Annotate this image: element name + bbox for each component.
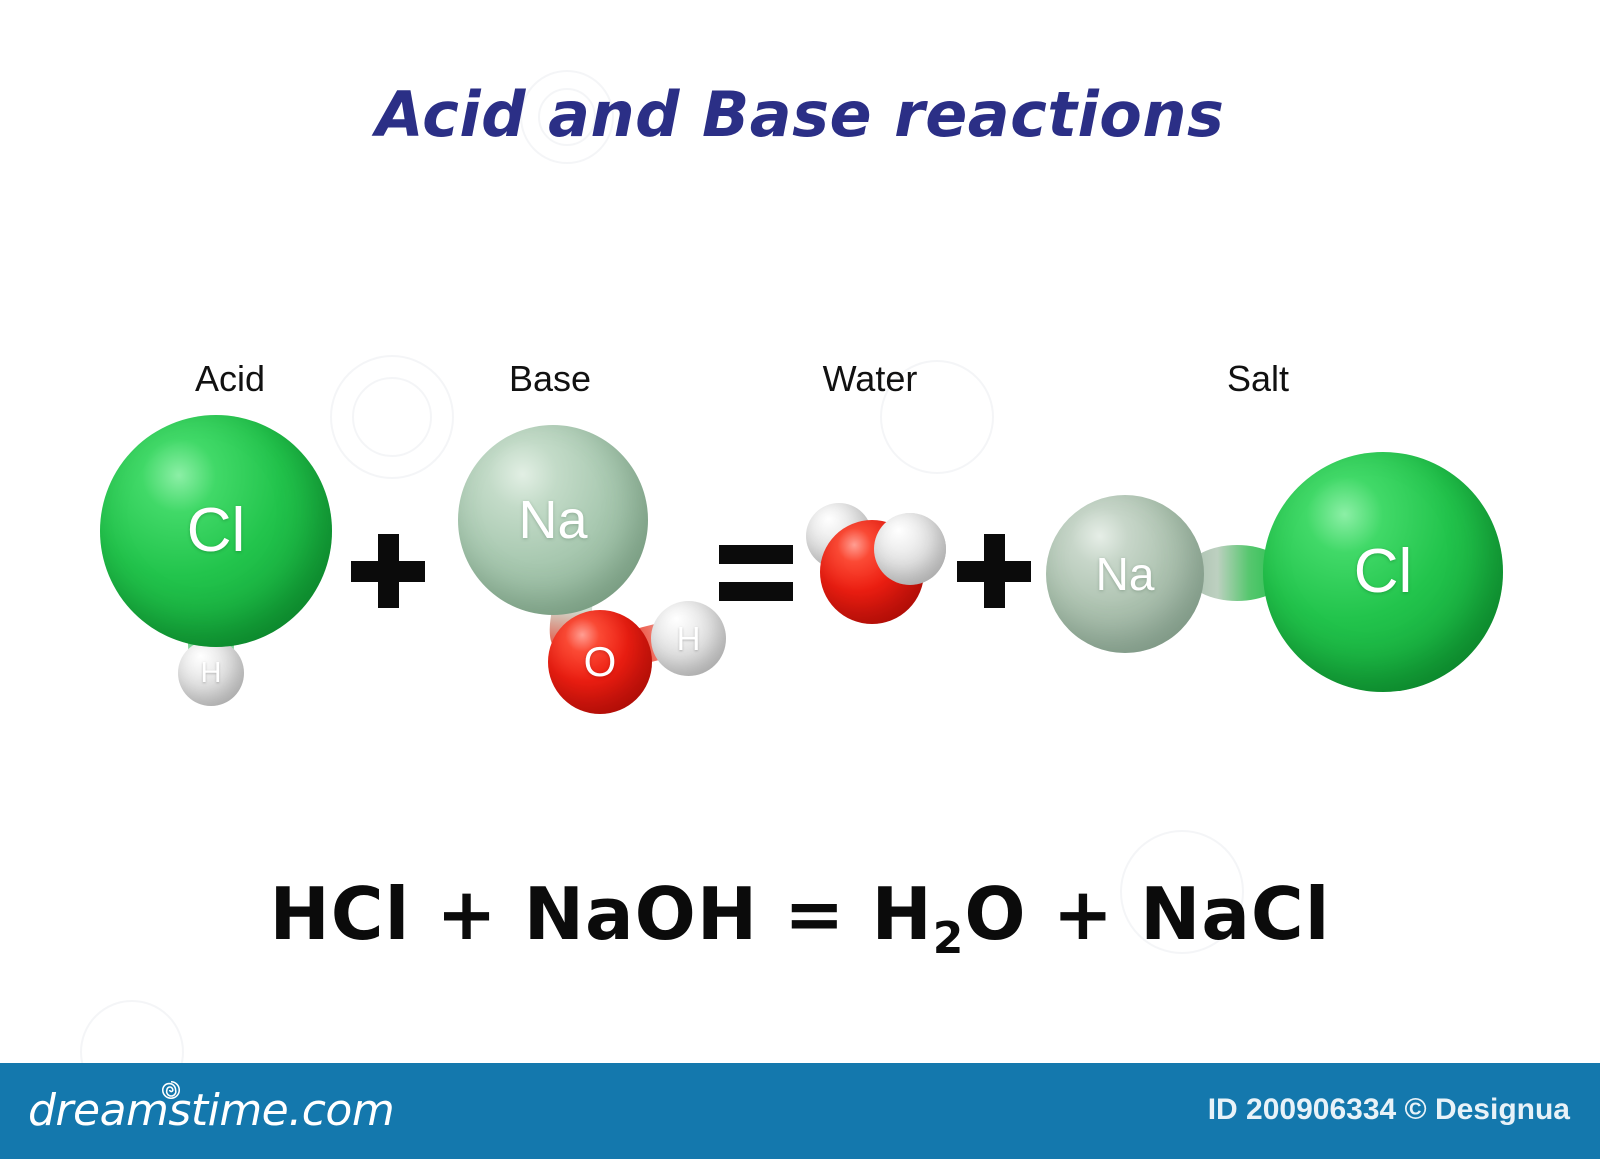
equals-bar-bottom [719, 582, 793, 601]
atom-label-h: H [201, 659, 222, 688]
atom-label-o: O [584, 641, 617, 683]
operator-equals [719, 545, 793, 601]
atom-label-cl: Cl [1354, 541, 1413, 603]
atom-cl-nacl: Cl [1263, 452, 1503, 692]
atom-h-hcl: H [178, 640, 244, 706]
footer-bar: dreamstime.com ID 200906334 © Designua [0, 1063, 1600, 1159]
page-title: Acid and Base reactions [0, 78, 1600, 151]
atom-cl-hcl: Cl [100, 415, 332, 647]
operator-plus-2 [957, 534, 1031, 608]
atom-label-h: H [677, 622, 701, 655]
atom-label-cl: Cl [187, 500, 246, 562]
label-acid: Acid [120, 358, 340, 400]
image-credit: ID 200906334 © Designua [1208, 1093, 1570, 1127]
chemical-equation: HCl + NaOH = H2O + NaCl [0, 872, 1600, 964]
watermark-ring [330, 355, 454, 479]
atom-na-nacl: Na [1046, 495, 1204, 653]
label-water: Water [760, 358, 980, 400]
operator-plus-1 [351, 534, 425, 608]
label-salt: Salt [1148, 358, 1368, 400]
equation-part-1: HCl + NaOH = H [270, 872, 933, 956]
atom-h2-water-front [874, 513, 946, 585]
atom-h-naoh: H [651, 601, 726, 676]
atom-na-naoh: Na [458, 425, 648, 615]
equation-part-2: O + NaCl [964, 872, 1330, 956]
equation-subscript: 2 [933, 913, 965, 964]
atom-o-naoh: O [548, 610, 652, 714]
atom-label-na: Na [518, 493, 587, 547]
equals-bar-top [719, 545, 793, 564]
atom-label-na: Na [1096, 551, 1155, 597]
dreamstime-logo[interactable]: dreamstime.com [28, 1085, 394, 1136]
label-base: Base [440, 358, 660, 400]
watermark-ring [352, 377, 432, 457]
